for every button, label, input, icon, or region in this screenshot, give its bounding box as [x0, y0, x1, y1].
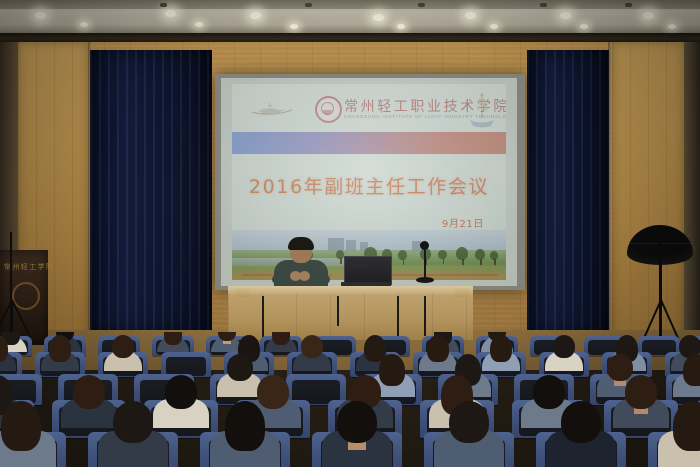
- audience-member-head: [533, 375, 565, 409]
- audience-member-head: [673, 401, 700, 451]
- wooden-lectern: 常州轻工学院: [0, 250, 48, 345]
- audience-member-head: [683, 354, 700, 387]
- ceiling-spotlight: [35, 12, 46, 19]
- photo-tree-trunk: [443, 258, 445, 264]
- table-wing-right: [455, 288, 469, 297]
- audience-member-head: [112, 335, 134, 358]
- ceiling-light-can: [160, 3, 167, 7]
- slide-date: 9月21日: [442, 215, 484, 230]
- presenter-table-top: [228, 286, 473, 294]
- presenter: [274, 239, 328, 291]
- microphone-stem: [424, 246, 426, 278]
- photo-building: [346, 240, 356, 251]
- photo-tree-trunk: [494, 259, 496, 265]
- ceiling-spotlight: [490, 24, 498, 29]
- photo-building: [328, 238, 344, 251]
- photo-tree-trunk: [480, 259, 482, 265]
- ceiling-light-can: [305, 3, 312, 7]
- ceiling-spotlight: [397, 24, 405, 29]
- presenter-arm-left: [272, 275, 292, 284]
- ceiling-spotlight: [80, 22, 88, 27]
- audience-member-head: [490, 335, 512, 363]
- audience-member-head: [625, 375, 657, 409]
- ceiling-spotlight: [165, 10, 176, 17]
- audience-member-head: [301, 335, 323, 358]
- slide-gradient-band: [232, 132, 506, 154]
- presenter-arm-right: [310, 275, 330, 284]
- photo-tree-trunk: [462, 259, 464, 265]
- projection-screen: 常州轻工职业技术学院 CHANGZHOU INSTITUTE OF LIGHT …: [221, 78, 517, 286]
- presenter-hand-right: [299, 271, 310, 281]
- presenter-hair: [288, 237, 314, 250]
- audience-member-head: [553, 335, 575, 358]
- audience-member-head: [607, 354, 633, 381]
- ceiling-spotlight: [195, 22, 203, 27]
- cable-2: [337, 296, 339, 326]
- cable-4: [424, 296, 426, 336]
- audience-member-head: [427, 335, 449, 363]
- audience-member-head: [449, 401, 489, 443]
- university-crest-icon: [315, 96, 342, 123]
- audience-member-head: [225, 401, 265, 451]
- audience-member-head: [257, 375, 289, 409]
- audience-member-head: [113, 401, 153, 443]
- microphone-base: [416, 277, 434, 283]
- table-wing-left: [236, 288, 250, 297]
- stage-curtain-left: [90, 50, 212, 335]
- audience-member-head: [49, 335, 71, 363]
- audience-member-head: [272, 332, 290, 345]
- photo-path: [428, 274, 498, 277]
- laptop-screen: [344, 256, 392, 285]
- ceiling-light-can: [540, 3, 547, 7]
- photo-tree-trunk: [340, 258, 342, 264]
- ceiling-spotlight: [668, 24, 676, 29]
- audience-member-head: [227, 354, 253, 381]
- audience-member-head: [379, 354, 405, 387]
- ceiling-spotlight: [643, 12, 654, 19]
- ceiling-spotlight: [373, 14, 384, 21]
- auditorium-photo: 常州轻工职业技术学院 CHANGZHOU INSTITUTE OF LIGHT …: [0, 0, 700, 467]
- ceiling-beam: [0, 33, 700, 42]
- ceiling-spotlight: [560, 12, 571, 19]
- audience-member-head: [561, 401, 601, 443]
- ceiling-spotlight: [580, 24, 588, 29]
- audience-member-head: [165, 375, 197, 409]
- ceiling-strip: [0, 0, 700, 9]
- ceiling-spotlight: [250, 12, 261, 19]
- wall-panel-right: [612, 42, 684, 352]
- audience-member-head: [73, 375, 105, 409]
- fishing-boat-icon: [248, 98, 296, 120]
- ceiling-spotlight: [290, 24, 298, 29]
- ceiling-spotlight: [465, 12, 476, 19]
- slide-title: 2016年副班主任工作会议: [232, 172, 506, 199]
- audience-member-head: [164, 332, 182, 345]
- wall-right-edge: [684, 42, 700, 352]
- ceiling-light-can: [418, 3, 425, 7]
- ceiling-light-can: [625, 3, 632, 7]
- photo-tree-trunk: [403, 259, 405, 265]
- stage-curtain-right: [527, 50, 609, 335]
- sailboat-icon: [464, 90, 500, 134]
- audience-member-head: [337, 401, 377, 443]
- audience-member-head: [1, 401, 41, 451]
- seated-audience: [0, 332, 700, 467]
